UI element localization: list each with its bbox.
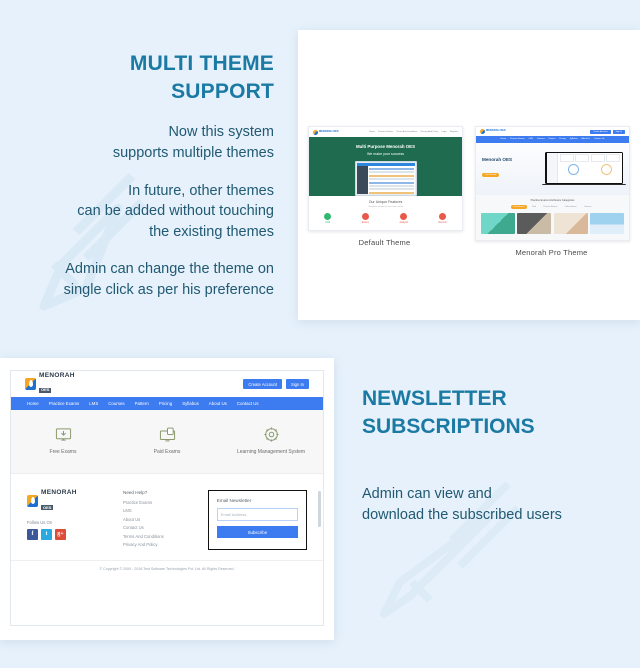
site-header-buttons: Create Account Sign In: [243, 379, 309, 389]
paragraph-2-line-2: can be added without touching: [8, 201, 274, 222]
pro-theme-logo: MENORAH OES: [480, 129, 506, 134]
newsletter-title-line1: NEWSLETTER: [362, 385, 632, 413]
site-logo[interactable]: MENORAH OES: [25, 373, 75, 396]
newsletter-screenshot-panel: MENORAH OES Create Account Sign In Home …: [0, 358, 334, 640]
categories-heading: Practice Exams And Exam Categories: [481, 199, 624, 202]
newsletter-copy: NEWSLETTER SUBSCRIPTIONS Admin can view …: [362, 385, 632, 526]
pro-theme-logo-text: MENORAH OES: [486, 130, 506, 133]
default-theme-hero: Multi Purpose Menorah OES We make your s…: [309, 137, 462, 196]
nav-item-courses[interactable]: Courses: [108, 401, 124, 406]
donut-chart-icon: [601, 164, 612, 175]
follow-us-label: Follow Us On: [27, 520, 111, 525]
pro-hero-title: Menorah OES: [482, 157, 536, 162]
feature-paid-exams[interactable]: Paid Exams: [115, 426, 219, 455]
footer-link[interactable]: Contact Us: [123, 525, 196, 530]
pro-nav-item[interactable]: Courses: [537, 138, 545, 140]
category-thumbnail[interactable]: [590, 213, 624, 234]
pro-nav-item[interactable]: LMS: [529, 138, 533, 140]
features-subheading: Complete solution for the exam needs: [309, 206, 462, 208]
dashboard-main: [558, 153, 622, 183]
category-thumbnail[interactable]: [517, 213, 551, 234]
analysis-icon: [400, 213, 407, 220]
monitor-download-icon: [55, 426, 72, 443]
theme-card-default[interactable]: MENORAH OES Home Practice Exams Terms An…: [308, 126, 461, 257]
feature-item-analysis[interactable]: Analysis: [399, 213, 408, 224]
nav-item-syllabus[interactable]: Syllabus: [182, 401, 199, 406]
laptop-dashboard: [547, 153, 622, 183]
copyright-text: © Copyright © 2009 - 2018 Test Software …: [11, 560, 323, 579]
default-nav-item[interactable]: Login: [441, 131, 446, 133]
default-hero-title: Multi Purpose Menorah OES: [356, 144, 415, 149]
default-theme-features: Our Unique Features Complete solution fo…: [309, 196, 462, 230]
footer-logo[interactable]: MENORAH OES: [27, 490, 111, 513]
website-screenshot: MENORAH OES Create Account Sign In Home …: [10, 370, 324, 626]
create-account-button[interactable]: Create Account: [243, 379, 282, 389]
feature-label: Free Exams: [11, 449, 115, 455]
feature-label: LMS: [324, 222, 331, 224]
default-nav-item[interactable]: Privacy And Policy: [420, 131, 438, 133]
page-root: MULTI THEME SUPPORT Now this system supp…: [0, 0, 640, 668]
paragraph-2-line-3: the existing themes: [8, 222, 274, 243]
logo-mark-icon: [313, 130, 318, 135]
pro-theme-categories: Practice Exams And Exam Categories Free …: [476, 195, 629, 240]
facebook-icon[interactable]: f: [27, 529, 38, 540]
footer-link[interactable]: Practice Exams: [123, 500, 196, 505]
tab-paid[interactable]: Paid: [529, 205, 538, 209]
default-hero-subtitle: We make your success: [367, 152, 404, 156]
menorah-logo-icon: [25, 378, 36, 390]
laptop-sidebar: [357, 166, 368, 194]
feature-label: Paid Exams: [115, 449, 219, 455]
pro-theme-header: MENORAH OES Create Account Sign In: [476, 127, 629, 136]
feature-item-reports[interactable]: Reports: [439, 213, 447, 224]
monitor-upload-icon: [159, 426, 176, 443]
default-nav-item[interactable]: Practice Exams: [378, 131, 393, 133]
pro-nav-item[interactable]: Pattern: [549, 138, 556, 140]
pro-nav-item[interactable]: Home: [501, 138, 507, 140]
categories-tabs: Free Exams Paid Practice Exams Other Exa…: [481, 205, 624, 209]
category-thumbnail[interactable]: [481, 213, 515, 234]
feature-item-lms[interactable]: LMS: [324, 213, 331, 224]
laptop-base: [542, 184, 626, 186]
multi-theme-title-line1: MULTI THEME: [8, 50, 274, 78]
sign-in-button[interactable]: Sign In: [613, 130, 625, 134]
exams-icon: [362, 213, 369, 220]
pro-nav-item[interactable]: Practice Exams: [510, 138, 524, 140]
theme-card-pro[interactable]: MENORAH OES Create Account Sign In Home …: [475, 126, 628, 257]
site-header: MENORAH OES Create Account Sign In: [11, 371, 323, 397]
pro-nav-item[interactable]: Contact Us: [594, 138, 604, 140]
footer-links-column: Need Help? Practice Exams LMS About Us C…: [123, 490, 196, 550]
paragraph-2-line-1: In future, other themes: [8, 181, 274, 202]
footer-links-heading: Need Help?: [123, 490, 196, 495]
default-theme-screenshot: MENORAH OES Home Practice Exams Terms An…: [308, 126, 463, 231]
pro-hero-cta-button[interactable]: Get Started: [482, 173, 499, 178]
pro-theme-hero: Menorah OES Get Started: [476, 143, 629, 195]
pro-nav-item[interactable]: About Us: [582, 138, 591, 140]
donut-chart-icon: [568, 164, 579, 175]
dashboard-sidebar: [547, 153, 559, 183]
subscribe-button[interactable]: Subscribe: [217, 526, 298, 538]
nav-item-pattern[interactable]: Pattern: [135, 401, 149, 406]
newsletter-highlight-box: Email Newsletter Email Address Subscribe: [208, 490, 307, 550]
newsletter-title-line2: SUBSCRIPTIONS: [362, 413, 632, 441]
social-links: f t g+: [27, 529, 111, 540]
multi-theme-paragraph-1: Now this system supports multiple themes: [8, 122, 274, 163]
tab-practice-exams[interactable]: Practice Exams: [541, 205, 560, 209]
twitter-icon[interactable]: t: [41, 529, 52, 540]
pro-theme-screenshot: MENORAH OES Create Account Sign In Home …: [475, 126, 630, 241]
site-features: Free Exams Paid Exams: [11, 410, 323, 474]
paragraph-1-line-2: supports multiple themes: [8, 143, 274, 164]
laptop-mockup-icon: [545, 152, 623, 186]
laptop-screen: [357, 163, 415, 194]
footer-brand-column: MENORAH OES Follow Us On f t g+: [27, 490, 111, 550]
default-nav-item[interactable]: Register: [450, 131, 458, 133]
site-logo-text: MENORAH OES: [39, 373, 75, 396]
category-thumbnail[interactable]: [554, 213, 588, 234]
nav-item-about-us[interactable]: About Us: [209, 401, 227, 406]
create-account-button[interactable]: Create Account: [590, 130, 610, 134]
google-plus-icon[interactable]: g+: [55, 529, 66, 540]
category-thumbnails: [481, 213, 624, 234]
logo-badge: OES: [41, 505, 53, 510]
nav-item-lms[interactable]: LMS: [89, 401, 98, 406]
newsletter-title: NEWSLETTER SUBSCRIPTIONS: [362, 385, 632, 440]
logo-name: MENORAH: [39, 373, 75, 380]
default-nav-item[interactable]: Terms And Conditions: [396, 131, 417, 133]
multi-theme-title-line2: SUPPORT: [8, 78, 274, 106]
scrollbar-thumb[interactable]: [318, 491, 321, 527]
paragraph-3-line-1: Admin can change the theme on: [8, 259, 274, 280]
scrollbar[interactable]: [318, 401, 321, 601]
multi-theme-paragraph-3: Admin can change the theme on single cli…: [8, 259, 274, 300]
footer-link[interactable]: Privacy And Policy: [123, 542, 196, 547]
feature-label: Exams: [362, 222, 369, 224]
pro-theme-caption: Menorah Pro Theme: [475, 248, 628, 257]
newsletter-paragraph: Admin can view and download the subscrib…: [362, 484, 632, 525]
menorah-logo-icon: [27, 495, 38, 507]
default-nav-item[interactable]: Home: [369, 131, 375, 133]
nav-item-practice-exams[interactable]: Practice Exams: [49, 401, 80, 406]
footer-link[interactable]: LMS: [123, 508, 196, 513]
tab-free-exams[interactable]: Free Exams: [511, 205, 527, 209]
nav-item-contact-us[interactable]: Contact Us: [237, 401, 259, 406]
default-theme-header: MENORAH OES Home Practice Exams Terms An…: [309, 127, 462, 137]
gear-icon: [263, 426, 280, 443]
feature-item-exams[interactable]: Exams: [362, 213, 369, 224]
default-theme-logo-text: MENORAH OES: [319, 131, 339, 134]
feature-label: Analysis: [399, 222, 408, 224]
pro-nav-item[interactable]: Syllabus: [570, 138, 578, 140]
feature-lms[interactable]: Learning Management System: [219, 426, 323, 455]
pro-theme-header-buttons: Create Account Sign In: [590, 130, 625, 134]
laptop-screen: [545, 152, 623, 184]
tab-other-exams[interactable]: Other Exams: [562, 205, 579, 209]
multi-theme-title: MULTI THEME SUPPORT: [8, 50, 274, 105]
nav-item-pricing[interactable]: Pricing: [159, 401, 172, 406]
multi-theme-paragraph-2: In future, other themes can be added wit…: [8, 181, 274, 243]
feature-label: Learning Management System: [219, 449, 323, 455]
feature-free-exams[interactable]: Free Exams: [11, 426, 115, 455]
theme-grid: MENORAH OES Home Practice Exams Terms An…: [308, 126, 628, 257]
theme-screenshots-panel: MENORAH OES Home Practice Exams Terms An…: [298, 30, 640, 320]
reports-icon: [439, 213, 446, 220]
lms-icon: [324, 213, 331, 220]
footer-link[interactable]: About Us: [123, 517, 196, 522]
feature-label: Reports: [439, 222, 447, 224]
default-theme-logo: MENORAH OES: [313, 130, 339, 135]
features-heading: Our Unique Features: [309, 200, 462, 204]
multi-theme-copy: MULTI THEME SUPPORT Now this system supp…: [8, 50, 274, 300]
pro-nav-item[interactable]: Pricing: [559, 138, 565, 140]
newsletter-heading: Email Newsletter: [217, 498, 298, 503]
laptop-content: [369, 168, 414, 193]
site-footer: MENORAH OES Follow Us On f t g+ Need Hel…: [11, 474, 323, 560]
laptop-mockup-icon: [355, 161, 417, 196]
logo-badge: OES: [39, 388, 51, 393]
newsletter-paragraph-line-2: download the subscribed users: [362, 505, 632, 526]
tab-courses[interactable]: Courses: [581, 205, 593, 209]
newsletter-email-input[interactable]: Email Address: [217, 508, 298, 521]
default-theme-caption: Default Theme: [308, 238, 461, 247]
logo-name: MENORAH: [41, 490, 77, 497]
logo-mark-icon: [480, 129, 485, 134]
default-feature-icons: LMS Exams Analysis: [309, 213, 462, 224]
footer-link[interactable]: Terms And Conditions: [123, 534, 196, 539]
default-theme-nav: Home Practice Exams Terms And Conditions…: [369, 131, 458, 133]
site-nav: Home Practice Exams LMS Courses Pattern …: [11, 397, 323, 410]
nav-item-home[interactable]: Home: [27, 401, 39, 406]
newsletter-paragraph-line-1: Admin can view and: [362, 484, 632, 505]
footer-logo-text: MENORAH OES: [41, 490, 77, 513]
pro-hero-copy: Menorah OES Get Started: [482, 157, 536, 180]
sign-in-button[interactable]: Sign In: [286, 379, 309, 389]
paragraph-1-line-1: Now this system: [8, 122, 274, 143]
paragraph-3-line-2: single click as per his preference: [8, 280, 274, 301]
